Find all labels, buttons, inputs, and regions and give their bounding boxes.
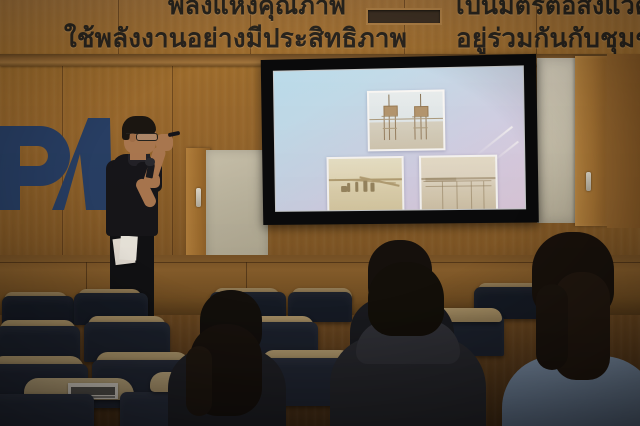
tower-mast	[388, 95, 389, 107]
worker-figure	[347, 183, 350, 192]
whiteboard-panel-right	[537, 58, 577, 223]
water-tower-left	[379, 100, 400, 141]
audience-member-center-front	[336, 258, 480, 426]
sliding-door-right[interactable]	[575, 56, 608, 226]
presenter-ear	[129, 133, 136, 142]
slide-photo-bottom-right	[419, 155, 498, 211]
lecture-hall-photo: พลังแห่งคุณภาพ ใช้พลังงานอย่างมีประสิทธิ…	[0, 0, 640, 426]
door-handle[interactable]	[586, 172, 591, 191]
lecture-chair[interactable]	[0, 394, 94, 426]
water-tower-right	[410, 101, 431, 141]
audience-member-left	[166, 296, 290, 426]
wall-plaque	[366, 8, 442, 25]
screen-inner-frame	[273, 65, 526, 211]
projection-screen	[261, 54, 539, 225]
slide-photo-top	[367, 89, 446, 151]
whiteboard-panel-left	[206, 150, 268, 268]
photo-salt-pans	[421, 157, 496, 211]
microphone-head	[145, 158, 155, 166]
worker-figure	[370, 183, 374, 192]
worker-figure	[363, 181, 367, 192]
banner-line-bottom-right: อยู่ร่วมกันกับชุมชนอย่าง	[456, 18, 640, 56]
audience-member-right	[510, 226, 640, 426]
projector-glare-streak	[475, 126, 513, 157]
worker-figure	[355, 182, 358, 192]
wall-column-right	[607, 54, 640, 228]
presenter-speaker	[84, 112, 214, 317]
projector-glare-streak	[490, 141, 518, 164]
pocket-papers	[119, 235, 138, 260]
tower-mast	[420, 94, 421, 107]
salt-heap-row	[425, 178, 456, 182]
audience-head	[368, 262, 444, 336]
laser-pointer	[168, 131, 181, 137]
presentation-slide	[274, 66, 525, 210]
audience-hair-strand	[536, 284, 568, 370]
banner-line-bottom-left: ใช้พลังงานอย่างมีประสิทธิภาพ	[64, 18, 407, 56]
slide-photo-bottom-left	[326, 156, 404, 211]
wall-banner: พลังแห่งคุณภาพ ใช้พลังงานอย่างมีประสิทธิ…	[0, 0, 640, 56]
cart	[341, 186, 347, 192]
audience-hair-strand	[186, 346, 212, 416]
eyeglasses	[136, 133, 158, 141]
